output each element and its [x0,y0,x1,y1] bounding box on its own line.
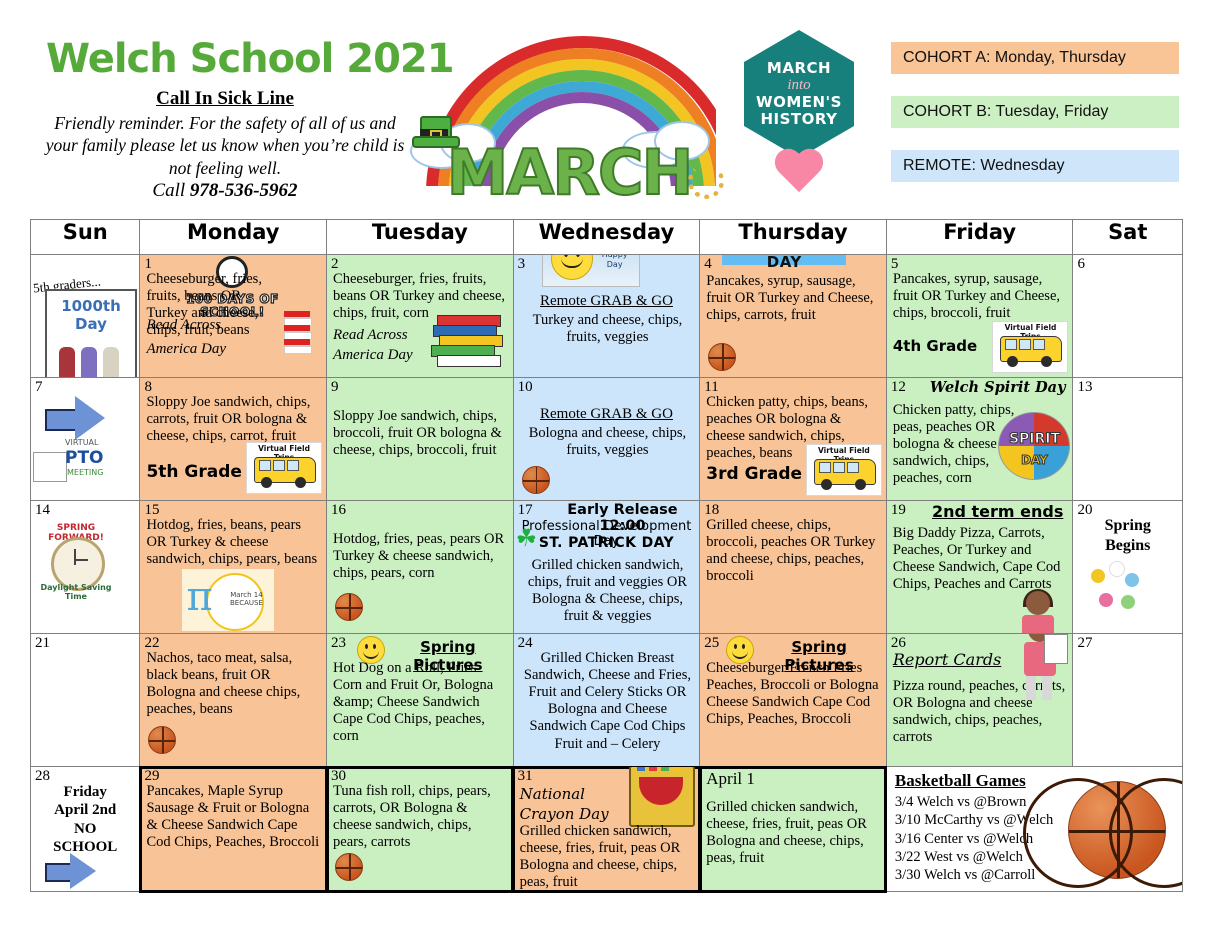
spirit-day-label: DAY [999,453,1069,467]
basketball-icon [335,853,363,881]
menu-text: Pancakes, syrup, sausage, fruit OR Turke… [893,271,1069,322]
day-cell-11[interactable]: 11 Chicken patty, chips, beans, peaches … [700,378,887,501]
virtual-field-trip-bus-icon: Virtual Field Trips [992,321,1068,373]
pi-day-badge: π March 14 BECAUSE [182,569,274,631]
day-cell-18[interactable]: 18 Grilled cheese, chips, broccoli, peac… [700,501,887,634]
legend-cohort-b: COHORT B: Tuesday, Friday [891,96,1179,128]
calendar-week-5: 28 Friday April 2nd NO SCHOOL 29 Pancake… [31,767,1183,892]
menu-text: Grilled chicken sandwich, cheese, fries,… [706,799,882,867]
menu-text: Pancakes, Maple Syrup Sausage & Fruit or… [146,783,322,851]
calendar-week-4: 21 22 Nachos, taco meat, salsa, black be… [31,634,1183,767]
day-cell-13[interactable]: 13 [1073,378,1183,501]
womens-history-badge: MARCH into WOMEN'S HISTORY [744,30,854,158]
menu-text: Hot Dog on a Roll, Fries Corn and Fruit … [333,660,509,746]
page-title: Welch School 2021 [46,36,454,82]
no-school-line2: April 2nd [31,801,139,819]
day-cell-28[interactable]: 28 Friday April 2nd NO SCHOOL [31,767,140,892]
spring-forward-art: SPRING FORWARD! Daylight Saving Time [35,521,117,603]
day-number: 21 [35,635,50,652]
day-cell-april-1[interactable]: April 1 Grilled chicken sandwich, cheese… [700,767,887,892]
march-wordmark: MARCH [404,144,734,203]
dow-monday: Monday [140,220,327,255]
sick-line-text: Friendly reminder. For the safety of all… [40,112,410,179]
day-cell-4[interactable]: 4 National GRAMMAR DAY Pancakes, syrup, … [700,255,887,378]
no-school-line1: Friday [31,783,139,801]
basketball-games-title: Basketball Games [895,771,1026,791]
report-card-icon [1044,634,1068,664]
basketball-icon [708,343,736,371]
dow-sat: Sat [1073,220,1183,255]
legend-remote: REMOTE: Wednesday [891,150,1179,182]
dow-thursday: Thursday [700,220,887,255]
wh-line2: into [787,77,810,94]
crayon-day-label: Crayon Day [520,805,609,823]
dow-wednesday: Wednesday [513,220,700,255]
day-cell-6[interactable]: 6 [1073,255,1183,378]
grade-label: 3rd Grade [706,464,802,484]
day-number: 16 [331,502,346,519]
day-number: 17 [518,502,533,519]
cohort-legend: COHORT A: Monday, Thursday COHORT B: Tue… [891,42,1179,204]
horseshoe-icon [688,163,724,199]
pto-label: PTO [65,448,104,468]
day-cell-30[interactable]: 30 Tuna fish roll, chips, pears, carrots… [327,767,514,892]
day-cell-12[interactable]: 12 Welch Spirit Day Chicken patty, chips… [886,378,1073,501]
report-card-student-icon [1014,634,1068,705]
virtual-field-trip-bus-icon: Virtual Field Trips [806,444,882,496]
menu-text: Big Daddy Pizza, Carrots, Peaches, Or Tu… [893,525,1069,593]
day-cell-16[interactable]: 16 Hotdog, fries, peas, pears OR Turkey … [327,501,514,634]
event-note-1: Read Across [333,327,408,344]
day-cell-24[interactable]: 24 Grilled Chicken Breast Sandwich, Chee… [513,634,700,767]
day-number: 27 [1077,635,1092,652]
day-cell-20[interactable]: 20 Spring Begins [1073,501,1183,634]
calendar-icon [33,452,67,482]
calendar-week-2: 7 VIRTUAL PTO MEETING 8 Sloppy Joe sandw… [31,378,1183,501]
day-cell-23[interactable]: 23 Spring Pictures Hot Dog on a Roll, Fr… [327,634,514,767]
remote-grab-go-title: Remote GRAB & GO [514,293,700,310]
day-number: 13 [1077,379,1092,396]
grade-label: 5th Grade [146,462,241,482]
st-patrick-day-title: ST. PATRICK DAY [514,535,700,551]
day-number: 6 [1077,256,1085,273]
day-number: 25 [704,635,719,652]
pto-meeting-label: MEETING [67,468,103,477]
virtual-field-trip-bus-icon: Virtual Field Trips [246,442,322,494]
menu-text: Grilled chicken sandwich, cheese, fries,… [520,823,696,891]
cat-in-the-hat-icon [284,311,310,365]
day-cell-2[interactable]: 2 Cheeseburger, fries, fruits, beans OR … [327,255,514,378]
books-icon [431,315,505,371]
event-note-2: America Day [333,347,413,364]
menu-text: Grilled Chicken Breast Sandwich, Cheese … [520,650,696,753]
menu-text: Grilled cheese, chips, broccoli, peaches… [706,517,882,585]
day-cell-9[interactable]: 9 Sloppy Joe sandwich, chips, broccoli, … [327,378,514,501]
wh-line4: HISTORY [760,111,837,128]
day-cell-1[interactable]: 1 100 DAYS OF SCHOOL! Cheeseburger, frie… [140,255,327,378]
basketball-icon [148,726,176,754]
day-number: 31 [518,768,533,785]
game-row: 3/30 Welch vs @Carroll [895,866,1053,884]
day-cell-31[interactable]: 31 National Crayon Day Grilled chicken s… [513,767,700,892]
calendar-week-3: 14 SPRING FORWARD! Daylight Saving Time … [31,501,1183,634]
happy-day-art: I Want You to be Happy Day [542,255,640,288]
shamrock-icon: ☘ [516,527,538,551]
spirit-day-badge: SPIRIT DAY [998,412,1070,480]
remote-grab-go-title: Remote GRAB & GO [514,406,700,423]
menu-text: Hotdog, fries, beans, pears OR Turkey & … [146,517,322,568]
day-cell-25[interactable]: 25 Spring Pictures Cheeseburger French F… [700,634,887,767]
menu-text: Sloppy Joe sandwich, chips, carrots, fru… [146,394,322,445]
day-cell-15[interactable]: 15 Hotdog, fries, beans, pears OR Turkey… [140,501,327,634]
menu-text: Sloppy Joe sandwich, chips, broccoli, fr… [333,408,509,459]
day-number: 23 [331,635,346,652]
calendar-page: Welch School 2021 Call In Sick Line Frie… [0,0,1213,937]
page-header: Welch School 2021 Call In Sick Line Frie… [0,0,1213,198]
pi-day-caption: March 14 BECAUSE [222,591,270,607]
event-note-2: America Day [146,341,226,358]
national-label: National [520,785,585,803]
day-number: 9 [331,379,339,396]
1000th-day-label: 1000th Day [47,291,135,333]
phone-number: 978-536-5962 [190,180,298,201]
no-school-line3: NO [31,820,139,838]
sick-line-block: Call In Sick Line Friendly reminder. For… [40,88,410,202]
day-cell-21[interactable]: 21 [31,634,140,767]
pto-meeting-badge: VIRTUAL PTO MEETING [33,444,119,486]
calendar-header-row: Sun Monday Tuesday Wednesday Thursday Fr… [31,220,1183,255]
arrow-right-icon [45,396,107,440]
arrow-right-icon [45,853,99,889]
day-number: 10 [518,379,533,396]
day-number: 19 [891,502,906,519]
day-cell-10[interactable]: 10 Remote GRAB & GO Bologna and cheese, … [513,378,700,501]
grade-label: 4th Grade [893,337,977,355]
pto-virtual-label: VIRTUAL [65,438,98,447]
happy-day-text: I Want You to be Happy Day [594,255,636,271]
calendar-table: Sun Monday Tuesday Wednesday Thursday Fr… [30,219,1183,892]
day-cell-14[interactable]: 14 SPRING FORWARD! Daylight Saving Time [31,501,140,634]
dow-tuesday: Tuesday [327,220,514,255]
second-term-ends-title: 2nd term ends [925,502,1071,521]
event-note-1: Read Across [146,317,221,334]
wh-line3: WOMEN'S [756,94,842,111]
begins-label: Begins [1073,537,1182,555]
daylight-saving-label: Daylight Saving Time [35,583,117,601]
march-rainbow-logo: MARCH [404,28,734,203]
dow-sun: Sun [31,220,140,255]
legend-cohort-a: COHORT A: Monday, Thursday [891,42,1179,74]
crayon-box-icon [629,767,695,828]
heart-icon [772,150,826,200]
day-cell-8[interactable]: 8 Sloppy Joe sandwich, chips, carrots, f… [140,378,327,501]
day-cell-3[interactable]: 3 I Want You to be Happy Day Remote GRAB… [513,255,700,378]
day-cell-27[interactable]: 27 [1073,634,1183,767]
menu-text: Cheeseburger French Fries Peaches, Brocc… [706,660,882,728]
menu-text: Pancakes, syrup, sausage, fruit OR Turke… [706,273,882,324]
100-days-of-school-badge: 100 DAYS OF SCHOOL! [184,255,280,272]
sick-line-title: Call In Sick Line [40,88,410,110]
day-number: 7 [35,379,43,396]
grammar-day-chip: National GRAMMAR DAY [722,255,846,266]
day-cell-sun-w1[interactable]: 5th graders... 1000th Day [31,255,140,378]
day-number: 3 [518,256,526,273]
wh-line1: MARCH [767,60,831,77]
day-cell-22[interactable]: 22 Nachos, taco meat, salsa, black beans… [140,634,327,767]
menu-text: Bologna and cheese, chips, fruits, veggi… [520,425,696,459]
day-cell-7[interactable]: 7 VIRTUAL PTO MEETING [31,378,140,501]
basketball-icon [335,593,363,621]
basketball-icon-large [1068,781,1166,879]
basketball-games-panel: Basketball Games 3/4 Welch vs @Brown 3/1… [886,767,1182,892]
1000th-day-art: 1000th Day [45,289,137,378]
menu-text: Nachos, taco meat, salsa, black beans, f… [146,650,322,718]
calendar-week-1: 5th graders... 1000th Day 1 100 DAYS OF … [31,255,1183,378]
day-cell-5[interactable]: 5 Pancakes, syrup, sausage, fruit OR Tur… [886,255,1073,378]
spring-label: Spring [1073,517,1182,535]
day-cell-29[interactable]: 29 Pancakes, Maple Syrup Sausage & Fruit… [140,767,327,892]
menu-text: Chicken patty, chips, peas, peaches OR b… [893,402,1015,488]
spirit-label: SPIRIT [999,431,1069,447]
menu-text: Tuna fish roll, chips, pears, carrots, O… [333,783,509,851]
menu-text: Hotdog, fries, peas, pears OR Turkey & c… [333,531,509,582]
grammar-day-bottom: GRAMMAR DAY [722,255,846,272]
menu-text: Turkey and cheese, chips, fruits, veggie… [520,312,696,346]
day-number: 14 [35,502,50,519]
day-number: April 1 [706,769,755,789]
call-prefix: Call [152,180,189,201]
day-cell-26[interactable]: 26 Report Cards Pizza round, peaches, ca… [886,634,1073,767]
sick-line-phone: Call 978-536-5962 [40,180,410,202]
welch-spirit-day-title: Welch Spirit Day [925,379,1071,396]
basketball-icon [522,466,550,494]
day-number: 12 [891,379,906,396]
spring-flowers-icon [1087,559,1149,613]
menu-text: Grilled chicken sandwich, chips, fruit a… [520,557,696,625]
day-cell-17[interactable]: 17 Early Release 12:00 Professional Deve… [513,501,700,634]
report-cards-title: Report Cards [893,650,1001,669]
student-icon [1012,591,1066,634]
day-number: 4 [704,256,712,273]
day-cell-19[interactable]: 19 2nd term ends Big Daddy Pizza, Carrot… [886,501,1073,634]
dow-friday: Friday [886,220,1073,255]
